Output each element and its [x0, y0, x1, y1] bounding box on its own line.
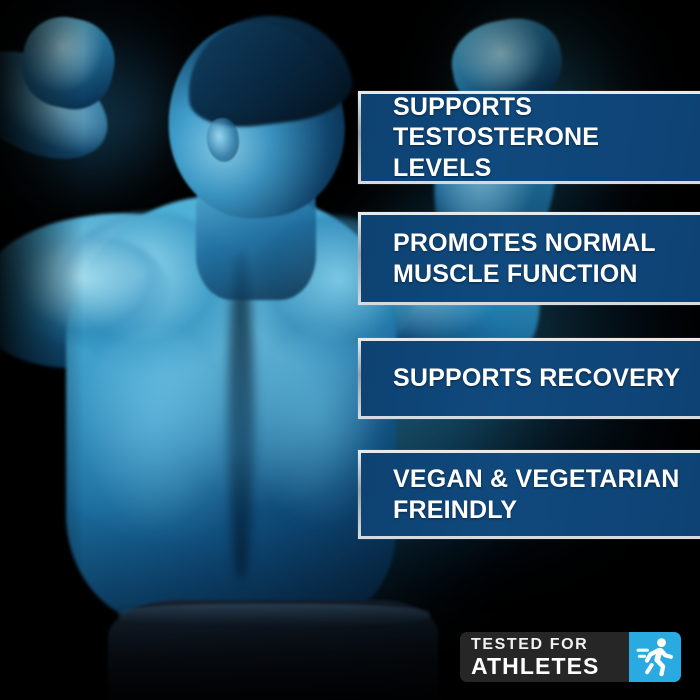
badge-athletes-label: ATHLETES	[471, 655, 629, 678]
benefit-banner: PROMOTES NORMAL MUSCLE FUNCTION	[358, 212, 700, 305]
badge-tested-for-label: TESTED FOR	[471, 637, 629, 653]
benefit-banner: SUPPORTS TESTOSTERONE LEVELS	[358, 91, 700, 184]
athlete-left-bicep	[10, 236, 170, 346]
benefit-banner: SUPPORTS RECOVERY	[358, 338, 700, 419]
badge-text-block: TESTED FOR ATHLETES	[460, 632, 629, 682]
athlete-left-lat	[78, 330, 218, 530]
athlete-jeans-waistband	[118, 604, 430, 626]
product-benefits-poster: SUPPORTS TESTOSTERONE LEVELS PROMOTES NO…	[0, 0, 700, 700]
benefit-label: PROMOTES NORMAL MUSCLE FUNCTION	[361, 228, 664, 289]
tested-for-athletes-badge: TESTED FOR ATHLETES	[460, 632, 681, 682]
benefit-label: SUPPORTS TESTOSTERONE LEVELS	[361, 92, 700, 184]
running-athlete-icon	[636, 637, 674, 677]
benefit-banner: VEGAN & VEGETARIAN FREINDLY	[358, 450, 700, 539]
badge-icon-panel	[629, 632, 681, 682]
benefit-label: VEGAN & VEGETARIAN FREINDLY	[361, 464, 688, 525]
benefit-label: SUPPORTS RECOVERY	[361, 363, 688, 394]
